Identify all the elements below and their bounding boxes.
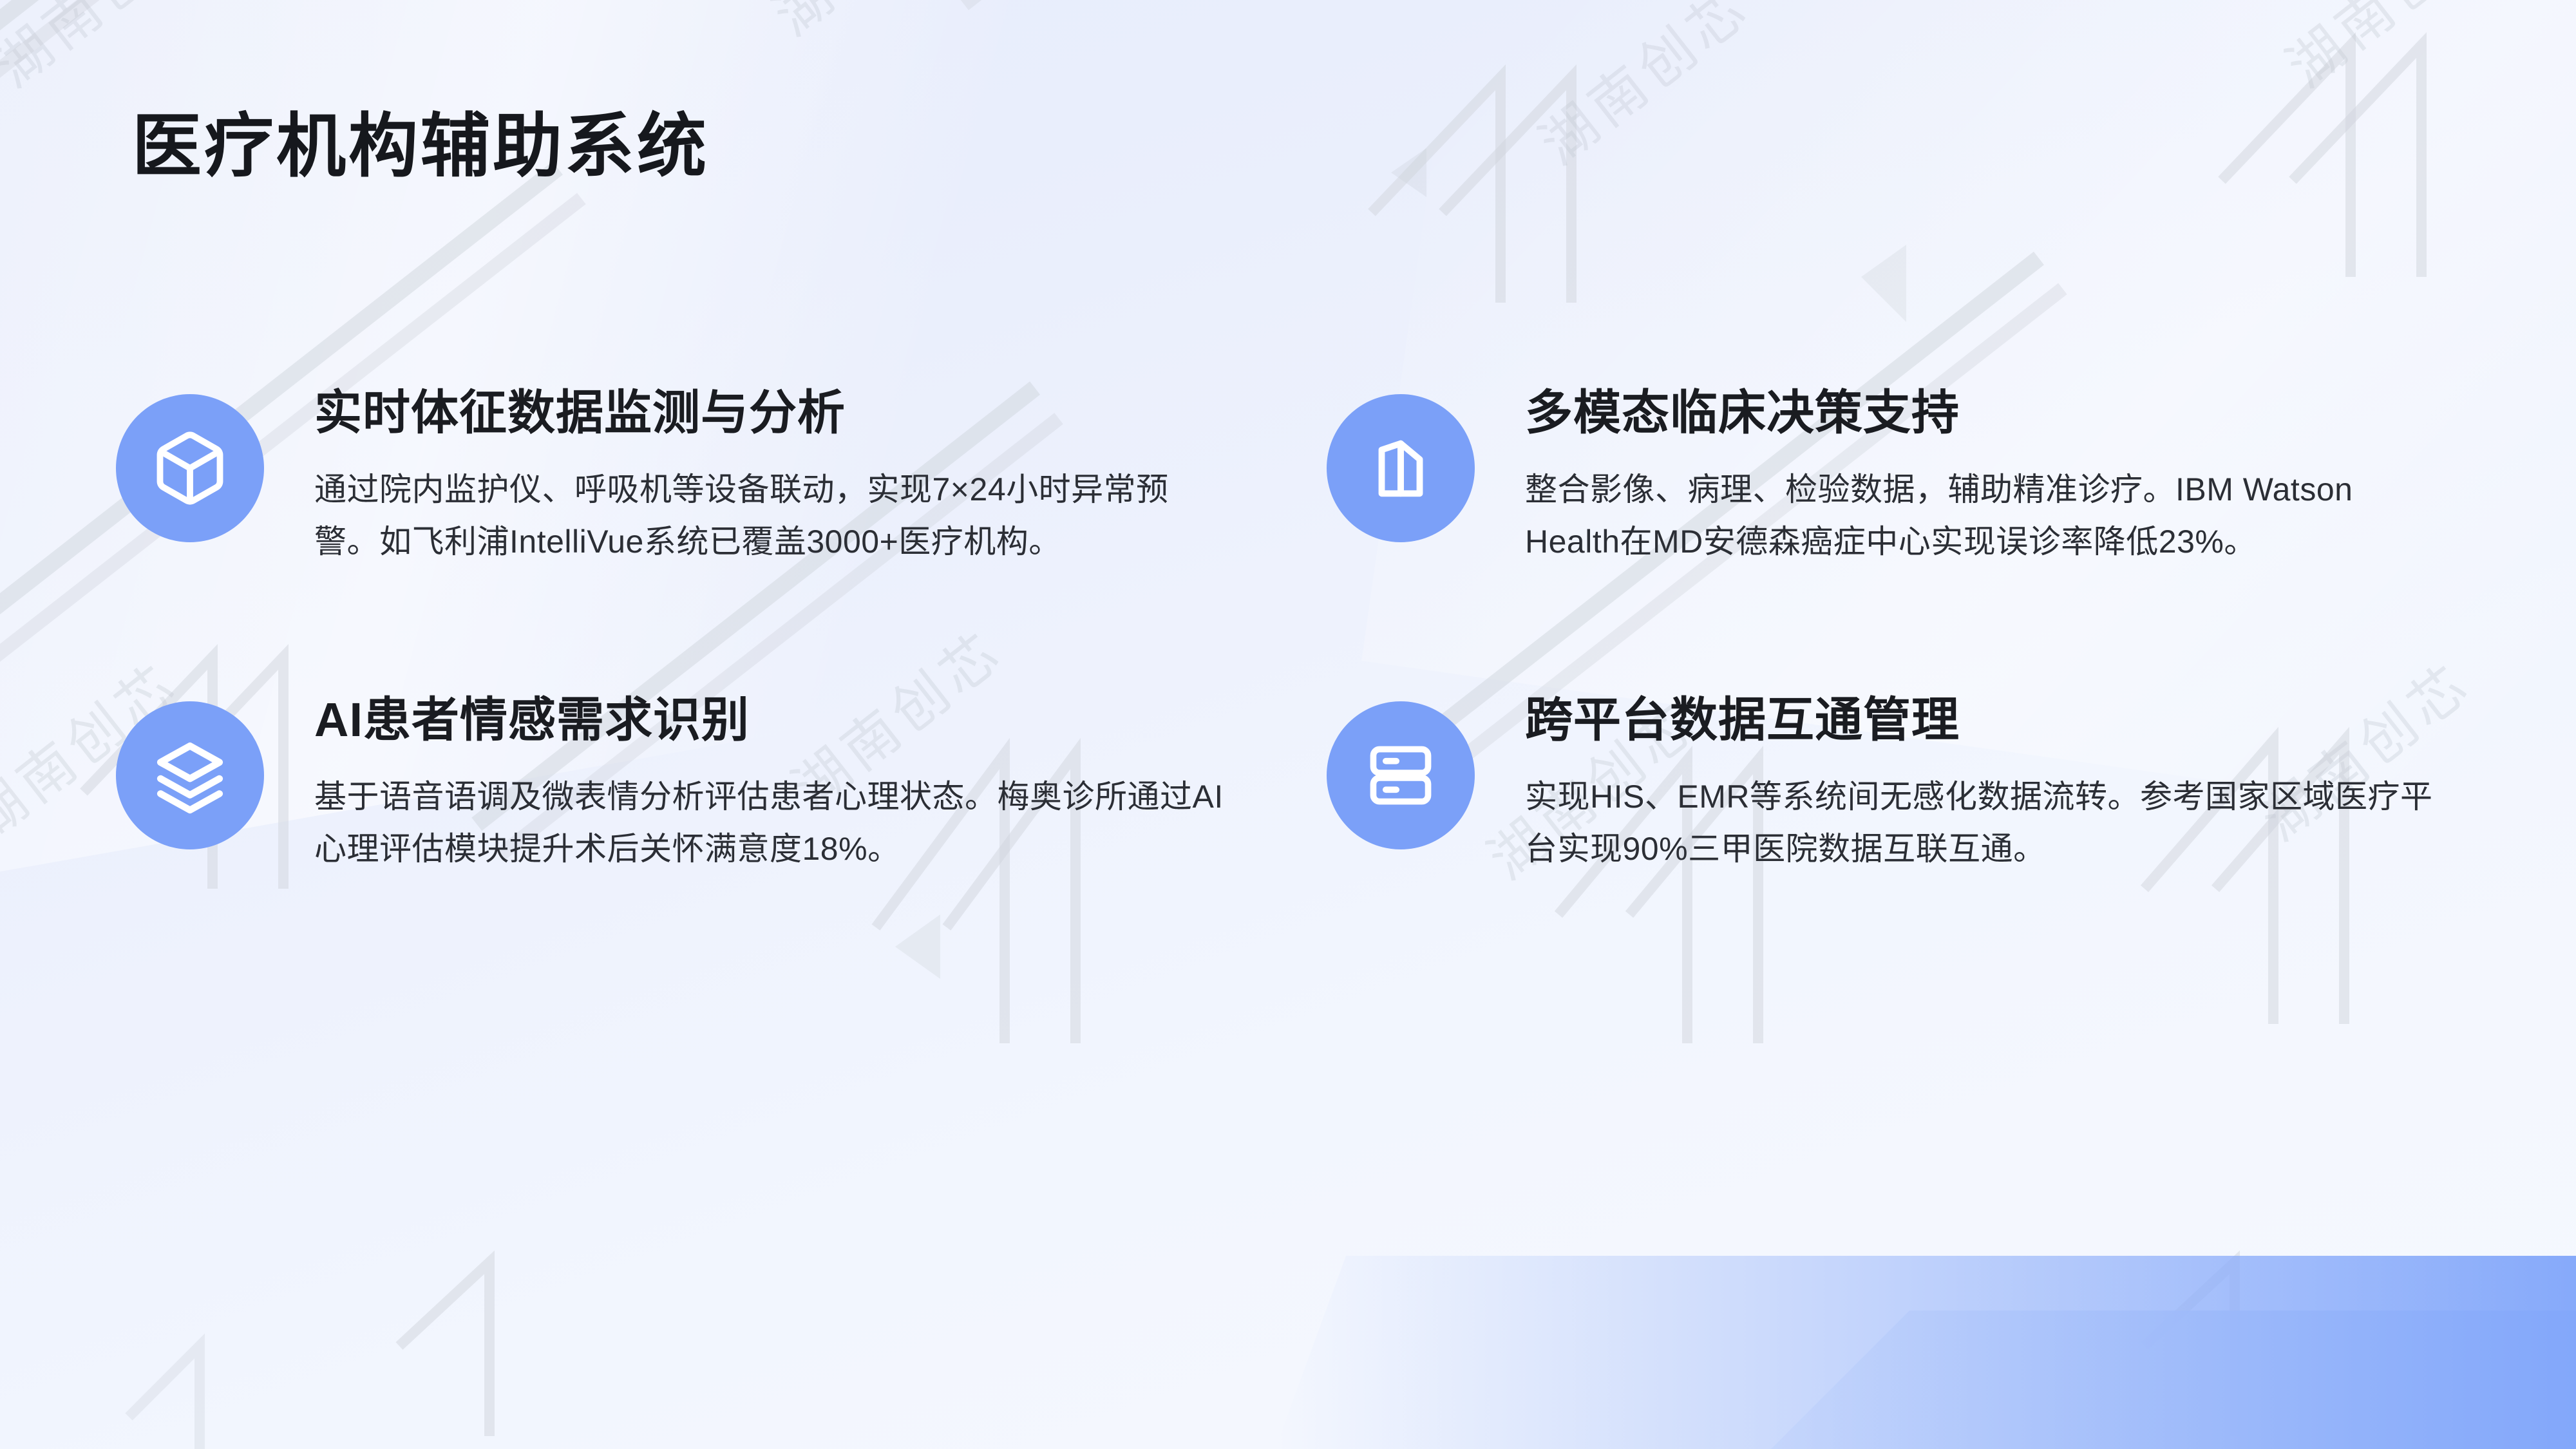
feature-card-body: 跨平台数据互通管理 实现HIS、EMR等系统间无感化数据流转。参考国家区域医疗平… (1525, 687, 2439, 875)
feature-card-desc: 整合影像、病理、检验数据，辅助精准诊疗。IBM Watson Health在MD… (1525, 464, 2439, 568)
feature-card-body: 实时体征数据监测与分析 通过院内监护仪、呼吸机等设备联动，实现7×24小时异常预… (314, 380, 1229, 568)
feature-card-title: 跨平台数据互通管理 (1525, 692, 2439, 748)
feature-card-desc: 基于语音语调及微表情分析评估患者心理状态。梅奥诊所通过AI心理评估模块提升术后关… (314, 771, 1229, 875)
feature-card-title: AI患者情感需求识别 (314, 692, 1229, 748)
feature-card: AI患者情感需求识别 基于语音语调及微表情分析评估患者心理状态。梅奥诊所通过AI… (116, 687, 1327, 875)
layers-icon (116, 701, 264, 849)
slide-root: 医疗机构辅助系统 实时体征数据监测与分析 通过院内监护仪、呼吸机等设备联动，实现… (0, 0, 2576, 1449)
buildings-icon (1327, 394, 1475, 542)
feature-card-desc: 实现HIS、EMR等系统间无感化数据流转。参考国家区域医疗平台实现90%三甲医院… (1525, 771, 2439, 875)
feature-card: 实时体征数据监测与分析 通过院内监护仪、呼吸机等设备联动，实现7×24小时异常预… (116, 380, 1327, 568)
feature-card-desc: 通过院内监护仪、呼吸机等设备联动，实现7×24小时异常预警。如飞利浦Intell… (314, 464, 1229, 568)
page-title: 医疗机构辅助系统 (132, 108, 709, 185)
feature-card: 跨平台数据互通管理 实现HIS、EMR等系统间无感化数据流转。参考国家区域医疗平… (1327, 687, 2486, 875)
cube-icon (116, 394, 264, 542)
feature-card-body: 多模态临床决策支持 整合影像、病理、检验数据，辅助精准诊疗。IBM Watson… (1525, 380, 2439, 568)
server-icon (1327, 701, 1475, 849)
feature-card-title: 多模态临床决策支持 (1525, 385, 2439, 440)
feature-card: 多模态临床决策支持 整合影像、病理、检验数据，辅助精准诊疗。IBM Watson… (1327, 380, 2486, 568)
feature-grid: 实时体征数据监测与分析 通过院内监护仪、呼吸机等设备联动，实现7×24小时异常预… (116, 380, 2486, 875)
feature-card-body: AI患者情感需求识别 基于语音语调及微表情分析评估患者心理状态。梅奥诊所通过AI… (314, 687, 1229, 875)
feature-card-title: 实时体征数据监测与分析 (314, 385, 1229, 440)
